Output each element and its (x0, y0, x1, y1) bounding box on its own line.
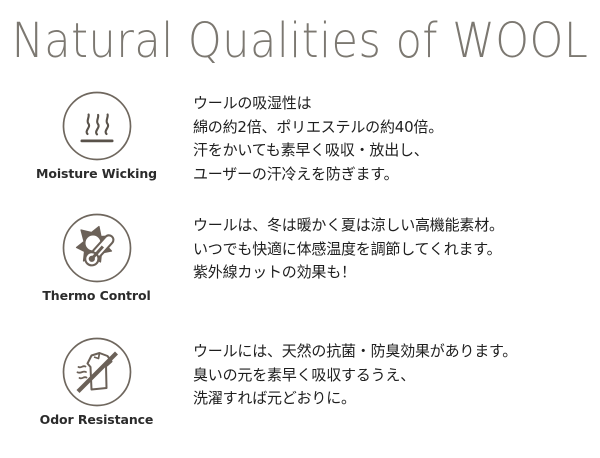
description-line: いつでも快適に体感温度を調節してくれます。 (193, 238, 590, 262)
feature-row: Thermo Control ウールは、冬は暖かく夏は涼しい高機能素材。 いつで… (0, 210, 600, 334)
icon-label: Thermo Control (42, 288, 150, 303)
description-line: 臭いの元を素早く吸収するうえ、 (193, 364, 590, 388)
description-line: 綿の約2倍、ポリエステルの約40倍。 (193, 116, 590, 140)
wool-qualities-infographic: Natural Qualities of WOOL Moisture Wicki… (0, 0, 600, 450)
description-line: 洗濯すれば元どおりに。 (193, 387, 590, 411)
description-line: ウールには、天然の抗菌・防臭効果があります。 (193, 340, 590, 364)
description-line: 汗をかいても素早く吸収・放出し、 (193, 139, 590, 163)
thermo-control-icon (61, 212, 133, 284)
icon-column: Moisture Wicking (0, 86, 193, 181)
icon-label: Odor Resistance (40, 412, 154, 427)
icon-column: Odor Resistance (0, 334, 193, 427)
odor-resistance-icon (61, 336, 133, 408)
feature-row: Odor Resistance ウールには、天然の抗菌・防臭効果があります。 臭… (0, 334, 600, 458)
page-title: Natural Qualities of WOOL (0, 12, 600, 70)
description-line: 紫外線カットの効果も！ (193, 261, 590, 285)
description-line: ユーザーの汗冷えを防ぎます。 (193, 163, 590, 187)
description-line: ウールの吸湿性は (193, 92, 590, 116)
feature-list: Moisture Wicking ウールの吸湿性は 綿の約2倍、ポリエステルの約… (0, 86, 600, 458)
icon-column: Thermo Control (0, 210, 193, 303)
title-container: Natural Qualities of WOOL (0, 12, 600, 64)
description-column: ウールの吸湿性は 綿の約2倍、ポリエステルの約40倍。 汗をかいても素早く吸収・… (193, 86, 600, 186)
description-column: ウールには、天然の抗菌・防臭効果があります。 臭いの元を素早く吸収するうえ、 洗… (193, 334, 600, 411)
moisture-wicking-icon (61, 90, 133, 162)
feature-row: Moisture Wicking ウールの吸湿性は 綿の約2倍、ポリエステルの約… (0, 86, 600, 210)
description-column: ウールは、冬は暖かく夏は涼しい高機能素材。 いつでも快適に体感温度を調節してくれ… (193, 210, 600, 285)
icon-label: Moisture Wicking (36, 166, 157, 181)
description-line: ウールは、冬は暖かく夏は涼しい高機能素材。 (193, 214, 590, 238)
